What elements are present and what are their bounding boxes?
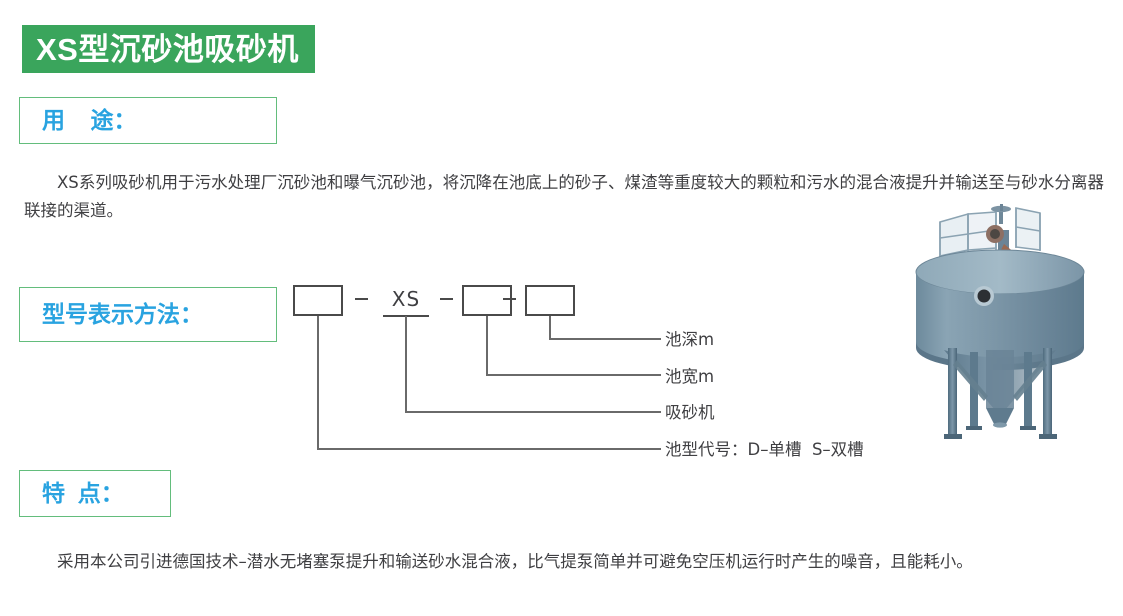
section-heading-model: 型号表示方法：	[19, 287, 277, 342]
model-separator-dash-3	[503, 298, 516, 300]
model-separator-dash-1	[355, 298, 368, 300]
leader-label-pool-depth: 池深m	[665, 332, 714, 349]
hopper-outlet	[986, 408, 1014, 424]
section-heading-purpose-label: 用 途：	[42, 109, 137, 132]
model-token-box-3	[462, 285, 512, 316]
model-token-box-1	[293, 285, 343, 316]
leader-line-horizontal-width	[486, 374, 661, 376]
machine-illustration	[900, 200, 1100, 445]
leader-line-horizontal-depth	[549, 338, 661, 340]
page-title: XS型沉砂池吸砂机	[36, 34, 299, 65]
page-title-banner: XS型沉砂池吸砂机	[22, 25, 315, 73]
model-token-box-4	[525, 285, 575, 316]
model-separator-dash-2	[440, 298, 453, 300]
leader-label-sand-suction-machine: 吸砂机	[665, 405, 715, 422]
leader-line-vertical-pooltype	[317, 316, 319, 449]
leader-line-horizontal-machine	[405, 411, 661, 413]
section-heading-features-label: 特 点：	[42, 482, 124, 505]
leader-line-vertical-machine	[405, 316, 407, 412]
leader-line-vertical-width	[486, 316, 488, 376]
section-heading-features: 特 点：	[19, 470, 171, 517]
section-heading-model-label: 型号表示方法：	[42, 303, 203, 326]
leader-line-vertical-depth	[549, 316, 551, 339]
model-designation-diagram: XS 池深m 池宽m 吸砂机 池型代号：D–单槽 S–双槽	[285, 275, 985, 475]
leader-line-horizontal-pooltype	[317, 448, 661, 450]
section-body-features: 采用本公司引进德国技术–潜水无堵塞泵提升和输送砂水混合液，比气提泵简单并可避免空…	[24, 548, 1104, 576]
leader-label-pool-type-code: 池型代号：D–单槽 S–双槽	[665, 442, 864, 459]
leader-label-pool-width: 池宽m	[665, 369, 714, 386]
model-token-xs: XS	[383, 287, 429, 311]
sand-suction-machine-photo	[900, 200, 1100, 445]
section-heading-purpose: 用 途：	[19, 97, 277, 144]
